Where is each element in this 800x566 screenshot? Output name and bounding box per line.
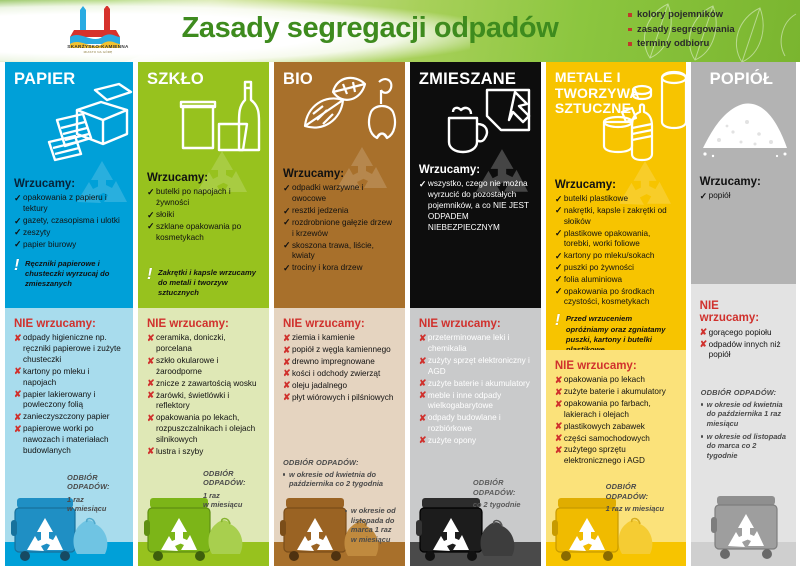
reject-item: ✘opakowania po lekach: [555, 375, 677, 386]
reject-item: ✘zużyte opony: [419, 436, 532, 447]
reject-item: ✘płyt wiórowych i pilśniowych: [283, 393, 396, 404]
reject-item: ✘opakowania po lekach, rozpuszczalnikach…: [147, 413, 260, 445]
reject-text: przeterminowane leki i chemikalia: [428, 333, 509, 353]
column-metale-reject-heading: NIE wrzucamy:: [555, 360, 677, 372]
reject-text: odpady higieniczne np. ręczniki papierow…: [23, 333, 121, 364]
reject-text: zużytego sprzętu elektronicznego i AGD: [564, 445, 645, 465]
column-bio-title: BIO: [283, 70, 396, 88]
logo-tagline: MIASTO NA GÓRĘ: [62, 50, 134, 54]
reject-text: zużyte baterie i akumulatory: [428, 379, 530, 388]
accept-item: ✓szklane opakowania po kosmetykach: [147, 222, 260, 244]
accept-text: opakowania z papieru i tektury: [23, 193, 107, 213]
collection-bullets: w okresie od kwietnia do października co…: [283, 470, 395, 489]
cross-icon: ✘: [419, 333, 427, 345]
accept-text: plastikowe opakowania, torebki, worki fo…: [564, 229, 650, 249]
cross-icon: ✘: [283, 333, 291, 345]
column-szklo-reject-heading: NIE wrzucamy:: [147, 318, 260, 330]
reject-text: znicze z zawartością wosku: [156, 379, 257, 388]
collection-line: 1 raz: [67, 495, 125, 505]
check-icon: ✓: [14, 227, 22, 239]
accept-text: trociny i kora drzew: [292, 263, 363, 272]
column-zmieszane-reject-list: ✘przeterminowane leki i chemikalia ✘zuży…: [419, 333, 532, 446]
column-metale-accept-list: ✓butelki plastikowe ✓nakrętki, kapsle i …: [555, 194, 677, 308]
reject-item: ✘odpady higieniczne np. ręczniki papiero…: [14, 333, 124, 365]
collection-line: 1 raz w miesiącu: [606, 504, 680, 514]
reject-text: oleju jadalnego: [292, 381, 347, 390]
reject-item: ✘lustra i szyby: [147, 447, 260, 458]
cross-icon: ✘: [147, 446, 155, 458]
accept-text: butelki po napojach i żywności: [156, 187, 231, 207]
column-papier-accept-heading: Wrzucamy:: [14, 178, 124, 190]
reject-text: opakowania po farbach, lakierach i oleja…: [564, 399, 651, 419]
cross-icon: ✘: [283, 380, 291, 392]
column-bio-top: BIO: [274, 62, 405, 308]
column-papier-reject-list: ✘odpady higieniczne np. ręczniki papiero…: [14, 333, 124, 456]
column-popiol-accept-list: ✓popiół: [700, 191, 787, 202]
cross-icon: ✘: [419, 390, 427, 402]
accept-item: ✓kartony po mleku/sokach: [555, 251, 677, 262]
collection-line: w miesiącu: [203, 500, 261, 510]
note-text: Ręczniki papierowe i chusteczki wyrzucaj…: [25, 259, 109, 289]
cross-icon: ✘: [147, 378, 155, 390]
collection-title: ODBIÓR ODPADÓW:: [283, 458, 395, 468]
cross-icon: ✘: [700, 339, 708, 351]
reject-item: ✘gorącego popiołu: [700, 328, 787, 339]
header-bullet-item: kolory pojemników: [628, 9, 735, 20]
column-zmieszane-collection-info: ODBIÓR ODPADÓW: co 2 tygodnie: [473, 478, 535, 510]
cross-icon: ✘: [419, 413, 427, 425]
collection-bullet: w okresie od listopada do marca co 2 tyg…: [701, 432, 787, 461]
check-icon: ✓: [147, 221, 155, 233]
reject-item: ✘zużyte baterie i akumulatory: [419, 379, 532, 390]
accept-text: słoiki: [156, 210, 174, 219]
accept-text: szklane opakowania po kosmetykach: [156, 222, 241, 242]
accept-text: opakowania po środkach czystości, kosmet…: [564, 287, 655, 307]
column-zmieszane-accept-list: ✓wszystko, czego nie można wyrzucić do p…: [419, 179, 532, 233]
collection-title: ODBIÓR ODPADÓW:: [606, 482, 680, 501]
accept-item: ✓butelki po napojach i żywności: [147, 187, 260, 209]
reject-text: opakowania po lekach, rozpuszczalnikach …: [156, 413, 255, 444]
reject-item: ✘papierowe worki po nawozach i materiała…: [14, 424, 124, 456]
check-icon: ✓: [555, 194, 563, 206]
column-zmieszane-bottom: NIE wrzucamy: ✘przeterminowane leki i ch…: [410, 308, 541, 566]
exclamation-icon: !: [147, 267, 152, 283]
reject-text: żarówki, świetlówki i reflektory: [156, 391, 229, 411]
check-icon: ✓: [283, 263, 291, 275]
check-icon: ✓: [147, 187, 155, 199]
header-bullet-item: terminy odbioru: [628, 38, 735, 49]
reject-item: ✘ziemia i kamienie: [283, 333, 396, 344]
check-icon: ✓: [555, 262, 563, 274]
reject-text: kartony po mleku i napojach: [23, 367, 89, 387]
reject-text: zużyte opony: [428, 436, 476, 445]
popiol-bin-illustration: [705, 486, 789, 562]
reject-text: płyt wiórowych i pilśniowych: [292, 393, 393, 402]
cross-icon: ✘: [555, 433, 563, 445]
accept-item: ✓folia aluminiowa: [555, 275, 677, 286]
column-metale-bottom: NIE wrzucamy: ✘opakowania po lekach ✘zuż…: [546, 350, 686, 566]
cross-icon: ✘: [147, 356, 155, 368]
reject-item: ✘zużyty sprzęt elektroniczny i AGD: [419, 356, 532, 378]
column-metale: METALE I TWORZYWA SZTUCZNE: [546, 62, 686, 566]
column-szklo-reject-list: ✘ceramika, doniczki, porcelana ✘szkło ok…: [147, 333, 260, 457]
reject-item: ✘szkło okularowe i żaroodporne: [147, 356, 260, 378]
reject-text: ziemia i kamienie: [292, 333, 355, 342]
reject-item: ✘papier lakierowany i powleczony folią: [14, 390, 124, 412]
reject-item: ✘zużytego sprzętu elektronicznego i AGD: [555, 445, 677, 467]
collection-line: 1 raz: [203, 491, 261, 501]
cross-icon: ✘: [14, 412, 22, 424]
reject-item: ✘drewno impregnowane: [283, 357, 396, 368]
column-popiol-reject-heading: NIE wrzucamy:: [700, 300, 760, 325]
column-bio-collection-info: ODBIÓR ODPADÓW: w okresie od kwietnia do…: [283, 458, 395, 492]
check-icon: ✓: [14, 239, 22, 251]
column-metale-note: ! Przed wrzuceniem opróżniamy oraz zgnia…: [555, 314, 677, 350]
column-zmieszane-top: ZMIESZANE Wrzucamy:: [410, 62, 541, 308]
cross-icon: ✘: [283, 345, 291, 357]
reject-item: ✘zużyte baterie i akumulatory: [555, 387, 677, 398]
cross-icon: ✘: [283, 357, 291, 369]
check-icon: ✓: [283, 240, 291, 252]
collection-bullet: w okresie od listopada do marca 1 raz w …: [345, 506, 399, 545]
column-popiol-reject-list: ✘gorącego popiołu ✘odpadów innych niż po…: [700, 328, 787, 361]
column-bio-bottom: NIE wrzucamy: ✘ziemia i kamienie ✘popiół…: [274, 308, 405, 566]
column-papier-collection-info: ODBIÓR ODPADÓW: 1 raz w miesiącu: [67, 473, 125, 515]
reject-item: ✘kości i odchody zwierząt: [283, 369, 396, 380]
cross-icon: ✘: [14, 333, 22, 345]
column-popiol-top: POPIÓŁ Wrzucamy: ✓popi: [691, 62, 796, 284]
accept-item: ✓zeszyty: [14, 228, 124, 239]
column-zmieszane-title: ZMIESZANE: [419, 70, 532, 88]
cross-icon: ✘: [147, 390, 155, 402]
collection-title: ODBIÓR ODPADÓW:: [203, 469, 261, 488]
collection-title: ODBIÓR ODPADÓW:: [67, 473, 125, 492]
column-szklo-collection-info: ODBIÓR ODPADÓW: 1 raz w miesiącu: [203, 469, 261, 511]
cardboard-box-icon: [39, 80, 133, 168]
column-szklo-top: SZKŁO Wrzucamy: ✓: [138, 62, 269, 308]
cross-icon: ✘: [700, 327, 708, 339]
reject-text: zanieczyszczony papier: [23, 412, 109, 421]
reject-text: papierowe worki po nawozach i materiałac…: [23, 424, 109, 455]
accept-text: wszystko, czego nie można wyrzucić do po…: [428, 179, 529, 231]
reject-text: papier lakierowany i powleczony folią: [23, 390, 95, 410]
accept-item: ✓puszki po żywności: [555, 263, 677, 274]
page-title: Zasady segregacji odpadów: [150, 12, 590, 45]
column-metale-collection-info: ODBIÓR ODPADÓW: 1 raz w miesiącu: [606, 482, 680, 514]
reject-text: gorącego popiołu: [709, 328, 772, 337]
column-papier-title: PAPIER: [14, 70, 124, 88]
accept-text: papier biurowy: [23, 240, 76, 249]
accept-text: resztki jedzenia: [292, 206, 348, 215]
column-szklo-accept-heading: Wrzucamy:: [147, 172, 260, 184]
accept-text: kartony po mleku/sokach: [564, 251, 655, 260]
collection-line: co 2 tygodnie: [473, 500, 535, 510]
reject-text: ceramika, doniczki, porcelana: [156, 333, 226, 353]
check-icon: ✓: [700, 191, 708, 203]
column-popiol-bottom: NIE wrzucamy: ✘gorącego popiołu ✘odpadów…: [691, 284, 796, 566]
accept-item: ✓rozdrobnione gałęzie drzew i krzewów: [283, 218, 396, 240]
check-icon: ✓: [283, 206, 291, 218]
cross-icon: ✘: [419, 435, 427, 447]
collection-bullets: w okresie od listopada do marca 1 raz w …: [345, 506, 399, 545]
reject-text: drewno impregnowane: [292, 357, 375, 366]
accept-item: ✓opakowania po środkach czystości, kosme…: [555, 287, 677, 309]
column-metale-title: METALE I TWORZYWA SZTUCZNE: [555, 70, 637, 117]
column-papier-note: ! Ręczniki papierowe i chusteczki wyrzuc…: [14, 259, 124, 290]
cup-paper-icon: [439, 82, 539, 162]
column-szklo: SZKŁO Wrzucamy: ✓: [138, 62, 269, 566]
accept-text: zeszyty: [23, 228, 50, 237]
column-metale-accept-heading: Wrzucamy:: [555, 179, 677, 191]
exclamation-icon: !: [555, 313, 560, 329]
reject-item: ✘popiół z węgla kamiennego: [283, 345, 396, 356]
column-papier-bottom: NIE wrzucamy: ✘odpady higieniczne np. rę…: [5, 308, 133, 566]
collection-bullets: w okresie od kwietnia do października 1 …: [701, 400, 787, 461]
ash-pile-icon: [697, 92, 793, 158]
note-text: Przed wrzuceniem opróżniamy oraz zgniata…: [566, 314, 666, 350]
column-zmieszane: ZMIESZANE Wrzucamy:: [410, 62, 541, 566]
reject-item: ✘oleju jadalnego: [283, 381, 396, 392]
column-szklo-bottom: NIE wrzucamy: ✘ceramika, doniczki, porce…: [138, 308, 269, 566]
column-metale-top: METALE I TWORZYWA SZTUCZNE: [546, 62, 686, 350]
reject-text: odpady budowlane i rozbiórkowe: [428, 413, 501, 433]
collection-title: ODBIÓR ODPADÓW:: [701, 388, 787, 398]
cross-icon: ✘: [14, 366, 22, 378]
accept-item: ✓nakrętki, kapsle i zakrętki od słoików: [555, 206, 677, 228]
accept-item: ✓odpadki warzywne i owocowe: [283, 183, 396, 205]
cross-icon: ✘: [419, 378, 427, 390]
reject-text: opakowania po lekach: [564, 375, 645, 384]
accept-text: puszki po żywności: [564, 263, 634, 272]
accept-text: skoszona trawa, liście, kwiaty: [292, 241, 374, 261]
check-icon: ✓: [14, 193, 22, 205]
header-bullet-item: zasady segregowania: [628, 24, 735, 35]
accept-text: folia aluminiowa: [564, 275, 622, 284]
cross-icon: ✘: [555, 399, 563, 411]
reject-text: meble i inne odpady wielkogabarytowe: [428, 391, 501, 411]
waste-category-columns: PAPIER: [0, 62, 800, 566]
accept-item: ✓papier biurowy: [14, 240, 124, 251]
accept-text: odpadki warzywne i owocowe: [292, 183, 363, 203]
reject-text: szkło okularowe i żaroodporne: [156, 356, 218, 376]
column-bio-accept-list: ✓odpadki warzywne i owocowe ✓resztki jed…: [283, 183, 396, 274]
column-papier-top: PAPIER: [5, 62, 133, 308]
reject-text: odpadów innych niż popiół: [709, 340, 781, 360]
cross-icon: ✘: [283, 392, 291, 404]
reject-text: zużyte baterie i akumulatory: [564, 387, 666, 396]
check-icon: ✓: [14, 216, 22, 228]
cross-icon: ✘: [555, 375, 563, 387]
header-bullet-list: kolory pojemników zasady segregowania te…: [628, 9, 735, 53]
column-popiol-collection-info: ODBIÓR ODPADÓW: w okresie od kwietnia do…: [701, 388, 787, 463]
cross-icon: ✘: [555, 445, 563, 457]
accept-text: popiół: [709, 191, 731, 200]
column-zmieszane-reject-heading: NIE wrzucamy:: [419, 318, 532, 330]
reject-item: ✘żarówki, świetlówki i reflektory: [147, 391, 260, 413]
column-bio-accept-heading: Wrzucamy:: [283, 168, 396, 180]
accept-item: ✓trociny i kora drzew: [283, 263, 396, 274]
reject-item: ✘plastikowych zabawek: [555, 422, 677, 433]
column-bio-reject-heading: NIE wrzucamy:: [283, 318, 396, 330]
reject-text: zużyty sprzęt elektroniczny i AGD: [428, 356, 530, 376]
column-bio: BIO: [274, 62, 405, 566]
check-icon: ✓: [419, 179, 427, 191]
exclamation-icon: !: [14, 258, 19, 274]
cross-icon: ✘: [147, 413, 155, 425]
reject-item: ✘znicze z zawartością wosku: [147, 379, 260, 390]
collection-bullet: w okresie od kwietnia do października 1 …: [701, 400, 787, 429]
column-papier-accept-list: ✓opakowania z papieru i tektury ✓gazety,…: [14, 193, 124, 250]
check-icon: ✓: [283, 217, 291, 229]
accept-item: ✓butelki plastikowe: [555, 194, 677, 205]
column-zmieszane-accept-heading: Wrzucamy:: [419, 164, 532, 176]
column-popiol-accept-heading: Wrzucamy:: [700, 176, 787, 188]
reject-text: plastikowych zabawek: [564, 422, 645, 431]
check-icon: ✓: [555, 205, 563, 217]
reject-item: ✘kartony po mleku i napojach: [14, 367, 124, 389]
accept-item: ✓wszystko, czego nie można wyrzucić do p…: [419, 179, 532, 233]
column-bio-collection-info-2: w okresie od listopada do marca 1 raz w …: [345, 504, 399, 548]
reject-text: lustra i szyby: [156, 447, 203, 456]
cross-icon: ✘: [14, 424, 22, 436]
reject-item: ✘opakowania po farbach, lakierach i olej…: [555, 399, 677, 421]
accept-item: ✓słoiki: [147, 210, 260, 221]
accept-item: ✓popiół: [700, 191, 787, 202]
accept-item: ✓opakowania z papieru i tektury: [14, 193, 124, 215]
column-popiol: POPIÓŁ Wrzucamy: ✓popi: [691, 62, 796, 566]
logo-city-name: SKARŻYSKO-KAMIENNA: [62, 44, 134, 49]
accept-text: butelki plastikowe: [564, 194, 628, 203]
column-szklo-note: ! Zakrętki i kapsle wrzucamy do metali i…: [147, 268, 260, 299]
accept-text: nakrętki, kapsle i zakrętki od słoików: [564, 206, 667, 226]
reject-text: części samochodowych: [564, 434, 650, 443]
reject-item: ✘przeterminowane leki i chemikalia: [419, 333, 532, 355]
check-icon: ✓: [147, 210, 155, 222]
cross-icon: ✘: [147, 333, 155, 345]
column-popiol-title: POPIÓŁ: [700, 70, 787, 88]
cross-icon: ✘: [283, 368, 291, 380]
reject-item: ✘części samochodowych: [555, 434, 677, 445]
cross-icon: ✘: [555, 387, 563, 399]
column-metale-reject-list: ✘opakowania po lekach ✘zużyte baterie i …: [555, 375, 677, 467]
reject-item: ✘odpady budowlane i rozbiórkowe: [419, 413, 532, 435]
cross-icon: ✘: [14, 389, 22, 401]
collection-bullet: w okresie od kwietnia do października co…: [283, 470, 395, 489]
reject-item: ✘zanieczyszczony papier: [14, 412, 124, 423]
waste-segregation-poster: SKARŻYSKO-KAMIENNA MIASTO NA GÓRĘ Zasady…: [0, 0, 800, 566]
check-icon: ✓: [555, 251, 563, 263]
column-papier: PAPIER: [5, 62, 133, 566]
reject-text: kości i odchody zwierząt: [292, 369, 380, 378]
accept-item: ✓resztki jedzenia: [283, 206, 396, 217]
accept-item: ✓gazety, czasopisma i ulotki: [14, 216, 124, 227]
check-icon: ✓: [283, 183, 291, 195]
note-text: Zakrętki i kapsle wrzucamy do metali i t…: [158, 268, 256, 298]
accept-text: gazety, czasopisma i ulotki: [23, 216, 120, 225]
check-icon: ✓: [555, 228, 563, 240]
reject-item: ✘odpadów innych niż popiół: [700, 340, 787, 362]
collection-line: w miesiącu: [67, 504, 125, 514]
column-papier-reject-heading: NIE wrzucamy:: [14, 318, 124, 330]
reject-item: ✘ceramika, doniczki, porcelana: [147, 333, 260, 355]
accept-text: rozdrobnione gałęzie drzew i krzewów: [292, 218, 392, 238]
collection-title: ODBIÓR ODPADÓW:: [473, 478, 535, 497]
accept-item: ✓plastikowe opakowania, torebki, worki f…: [555, 229, 677, 251]
check-icon: ✓: [555, 286, 563, 298]
reject-item: ✘meble i inne odpady wielkogabarytowe: [419, 391, 532, 413]
column-bio-reject-list: ✘ziemia i kamienie ✘popiół z węgla kamie…: [283, 333, 396, 403]
reject-text: popiół z węgla kamiennego: [292, 345, 391, 354]
cross-icon: ✘: [555, 421, 563, 433]
column-szklo-title: SZKŁO: [147, 70, 260, 88]
check-icon: ✓: [555, 274, 563, 286]
column-szklo-accept-list: ✓butelki po napojach i żywności ✓słoiki …: [147, 187, 260, 243]
accept-item: ✓skoszona trawa, liście, kwiaty: [283, 241, 396, 263]
header-banner: SKARŻYSKO-KAMIENNA MIASTO NA GÓRĘ Zasady…: [0, 0, 800, 62]
cross-icon: ✘: [419, 356, 427, 368]
